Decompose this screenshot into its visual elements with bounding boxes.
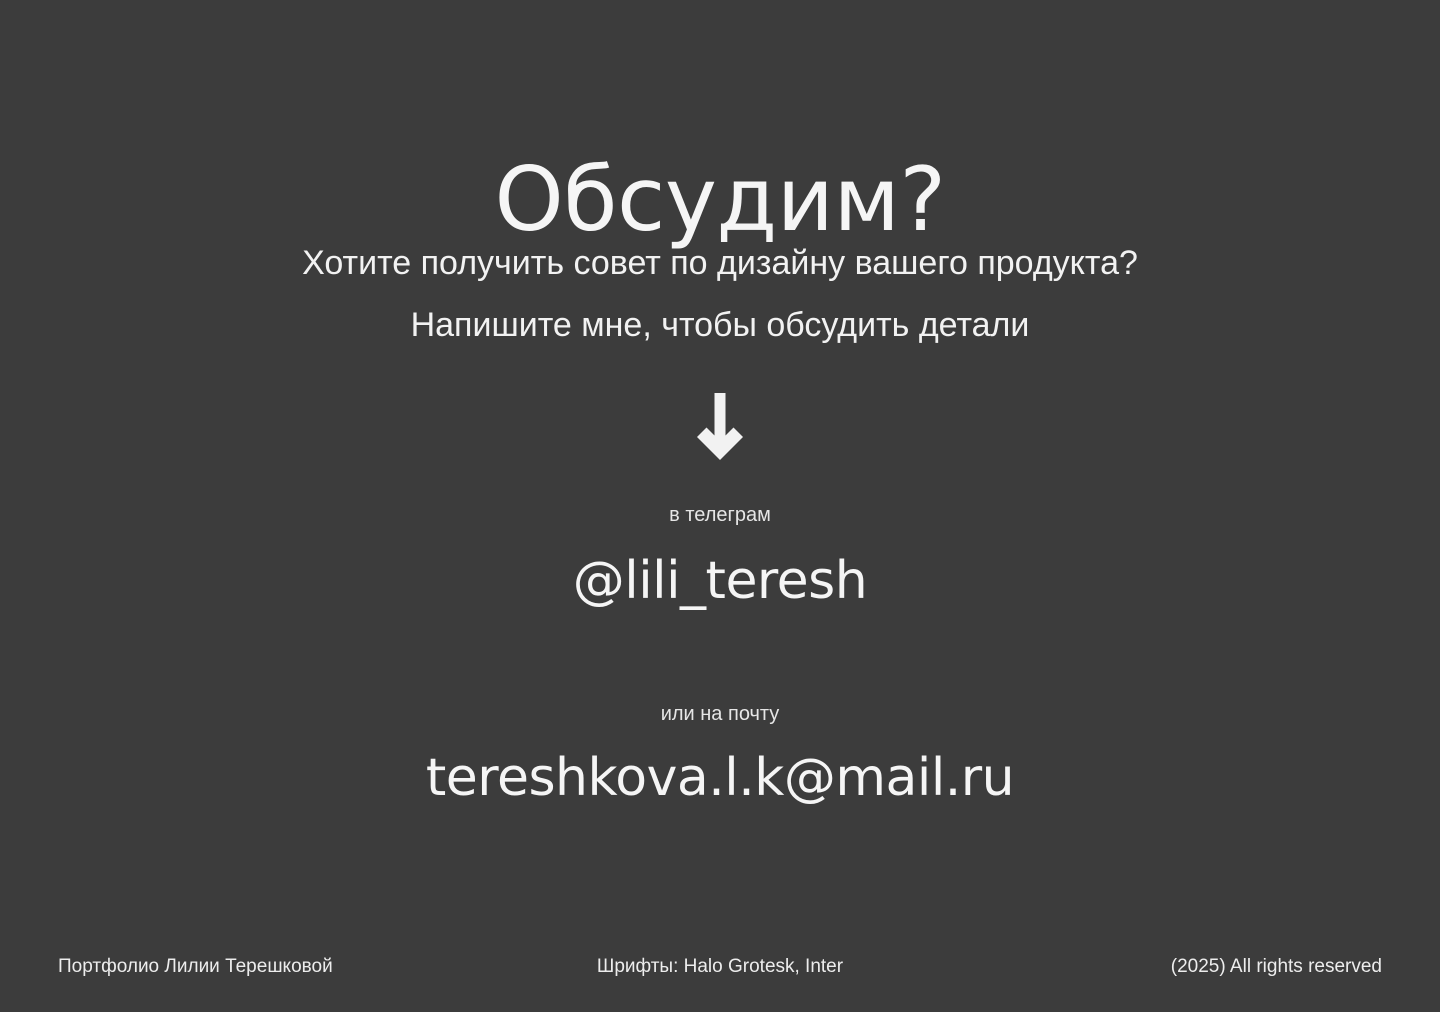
footer-fonts-label: Шрифты: Halo Grotesk, Inter bbox=[597, 956, 843, 979]
contact-label-email: или на почту bbox=[0, 702, 1440, 726]
telegram-handle[interactable]: @lili_teresh bbox=[0, 553, 1440, 610]
arrow-down-container bbox=[0, 393, 1440, 473]
arrow-down-icon bbox=[692, 393, 748, 473]
contact-telegram: в телеграм @lili_teresh bbox=[0, 503, 1440, 610]
footer: Портфолио Лилии Терешковой Шрифты: Halo … bbox=[58, 954, 1382, 980]
subtitle-line-2: Напишите мне, чтобы обсудить детали bbox=[0, 308, 1440, 342]
contact-slide: Обсудим? Хотите получить совет по дизайн… bbox=[0, 0, 1440, 1012]
email-address[interactable]: tereshkova.l.k@mail.ru bbox=[0, 750, 1440, 807]
contact-label-telegram: в телеграм bbox=[0, 503, 1440, 527]
page-title: Обсудим? bbox=[0, 154, 1440, 246]
subtitle-line-1: Хотите получить совет по дизайну вашего … bbox=[0, 246, 1440, 280]
subtitle-block: Хотите получить совет по дизайну вашего … bbox=[0, 246, 1440, 342]
footer-copyright-label: (2025) All rights reserved bbox=[1171, 956, 1382, 979]
contact-email: или на почту tereshkova.l.k@mail.ru bbox=[0, 702, 1440, 807]
footer-portfolio-label: Портфолио Лилии Терешковой bbox=[58, 956, 333, 979]
